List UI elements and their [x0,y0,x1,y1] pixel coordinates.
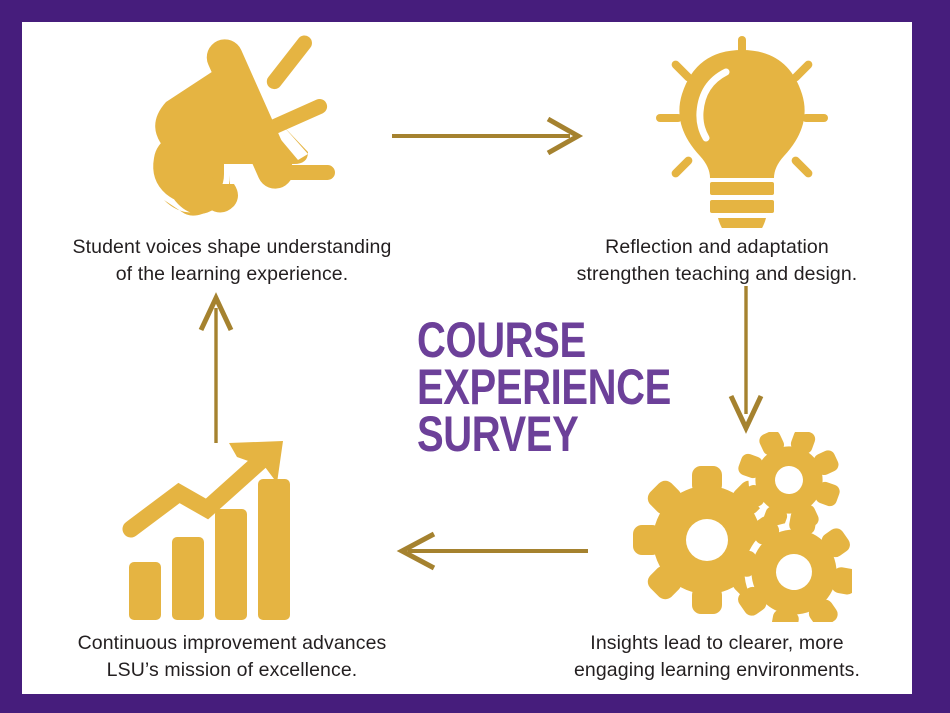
caption-top-right: Reflection and adaptation strengthen tea… [522,234,912,287]
caption-bottom-left-line1: Continuous improvement advances [22,630,442,657]
caption-bottom-left: Continuous improvement advances LSU’s mi… [22,630,442,683]
page-title-line1: Course [417,317,577,364]
caption-top-right-line1: Reflection and adaptation [522,234,912,261]
caption-top-left-line2: of the learning experience. [22,261,442,288]
arrow-left-up [192,290,240,450]
caption-bottom-left-line2: LSU’s mission of excellence. [22,657,442,684]
lightbulb-icon [642,28,842,233]
caption-bottom-right-line1: Insights lead to clearer, more [522,630,912,657]
arrow-top-right [390,112,590,165]
megaphone-icon [112,22,352,227]
arrow-bottom-left [390,527,590,580]
growth-bar-chart-icon [117,437,307,632]
caption-bottom-right: Insights lead to clearer, more engaging … [522,630,912,683]
caption-top-right-line2: strengthen teaching and design. [522,261,912,288]
caption-top-left: Student voices shape understanding of th… [22,234,442,287]
page-title-line3: Survey [417,411,577,458]
caption-top-left-line1: Student voices shape understanding [22,234,442,261]
infographic-canvas: Student voices shape understanding of th… [0,0,950,713]
gears-icon [622,432,852,627]
page-title-line2: Experience [417,364,577,411]
infographic-inner-panel: Student voices shape understanding of th… [22,22,912,694]
page-title: Course Experience Survey [397,317,597,458]
arrow-right-down [722,284,770,439]
caption-bottom-right-line2: engaging learning environments. [522,657,912,684]
